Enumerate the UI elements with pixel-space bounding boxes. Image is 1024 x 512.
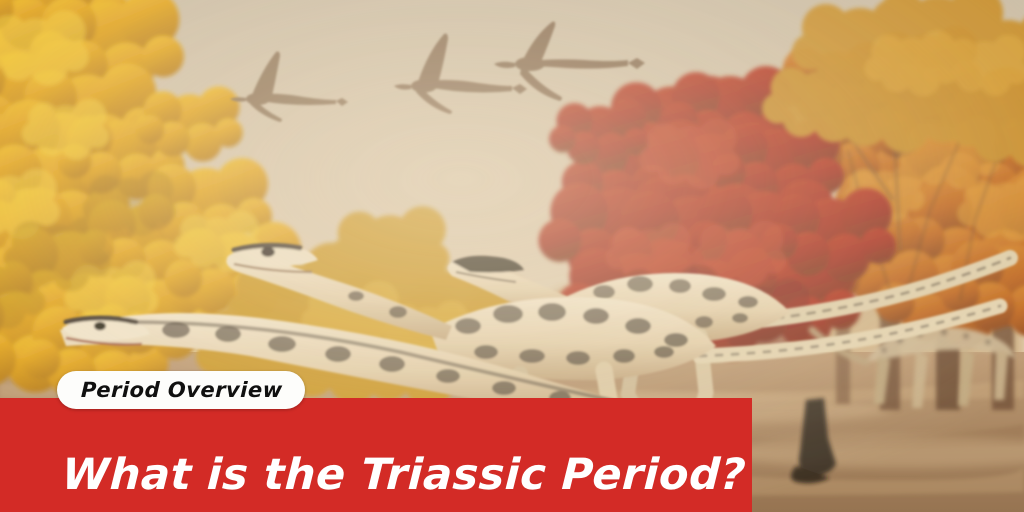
category-badge-label: Period Overview [81,380,283,401]
category-badge: Period Overview [57,371,305,409]
page-title: What is the Triassic Period? [61,453,747,498]
banner-stage: Period Overview What is the Triassic Per… [0,0,1024,512]
